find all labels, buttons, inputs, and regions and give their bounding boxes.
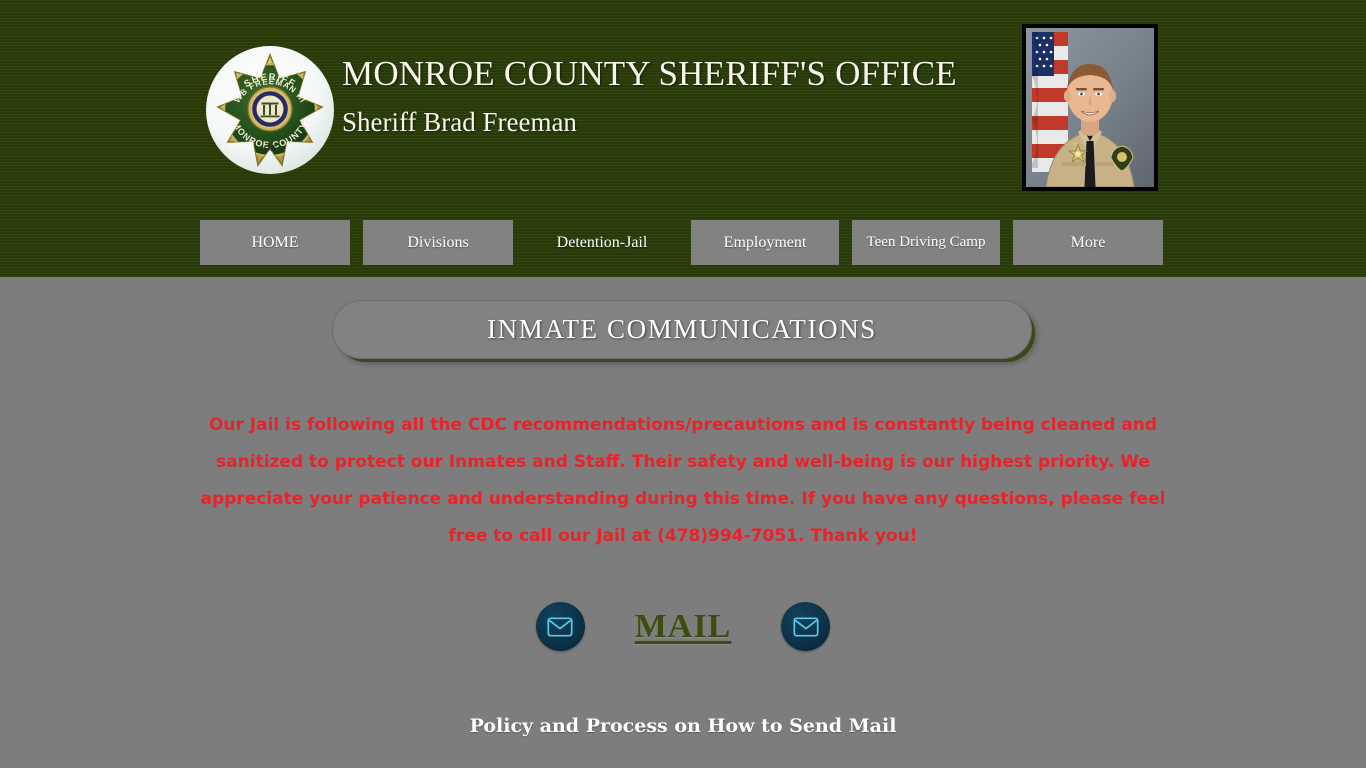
sheriff-badge-logo[interactable]: SHERIFF WB FREEMAN III MONROE COUNTY GA: [206, 46, 334, 174]
svg-text:GA: GA: [264, 143, 277, 153]
main-navigation: HOME Divisions Detention-Jail Employment…: [0, 220, 1366, 270]
nav-item-employment[interactable]: Employment: [691, 220, 839, 265]
page-main: INMATE COMMUNICATIONS Our Jail is follow…: [0, 277, 1366, 768]
page-title: INMATE COMMUNICATIONS: [487, 314, 877, 345]
nav-item-divisions[interactable]: Divisions: [363, 220, 513, 265]
nav-item-home[interactable]: HOME: [200, 220, 350, 265]
nav-list: HOME Divisions Detention-Jail Employment…: [200, 220, 1163, 265]
header-title-block: MONROE COUNTY SHERIFF'S OFFICE Sheriff B…: [342, 52, 1022, 141]
envelope-icon: [793, 617, 819, 637]
header-inner: SHERIFF WB FREEMAN III MONROE COUNTY GA …: [0, 0, 1366, 220]
sheriff-portrait-image: [1026, 28, 1154, 187]
covid-notice-text: Our Jail is following all the CDC recomm…: [190, 407, 1176, 555]
nav-item-teen-driving-camp[interactable]: Teen Driving Camp: [852, 220, 1000, 265]
inmate-communications-banner[interactable]: INMATE COMMUNICATIONS: [332, 300, 1032, 359]
envelope-icon-right[interactable]: [781, 602, 830, 651]
organization-title: MONROE COUNTY SHERIFF'S OFFICE: [342, 52, 1022, 96]
mail-link[interactable]: MAIL: [635, 608, 732, 646]
sheriff-portrait[interactable]: [1022, 24, 1158, 191]
envelope-icon: [547, 617, 573, 637]
envelope-icon-left[interactable]: [536, 602, 585, 651]
policy-heading: Policy and Process on How to Send Mail: [0, 715, 1366, 737]
nav-item-detention-jail[interactable]: Detention-Jail: [526, 220, 678, 265]
sheriff-name-subtitle: Sheriff Brad Freeman: [342, 103, 1022, 141]
nav-item-more[interactable]: More: [1013, 220, 1163, 265]
mail-section: MAIL: [0, 602, 1366, 651]
sheriff-star-icon: SHERIFF WB FREEMAN III MONROE COUNTY GA: [209, 49, 331, 171]
site-header: SHERIFF WB FREEMAN III MONROE COUNTY GA …: [0, 0, 1366, 277]
